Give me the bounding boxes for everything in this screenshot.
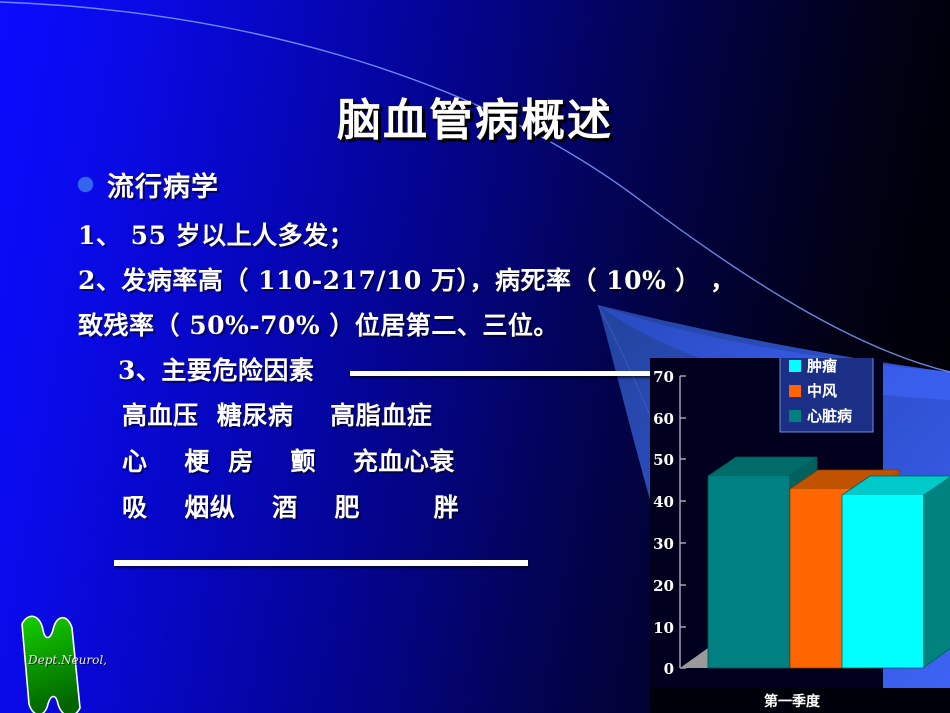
- epidemiology-bullet: 流行病学: [78, 165, 718, 204]
- y-tick-40: 40: [653, 493, 674, 511]
- y-tick-50: 50: [653, 451, 674, 469]
- bar-tumor: [842, 476, 950, 668]
- chart-legend: 肿瘤 中风 心脏病: [780, 358, 873, 432]
- epidemiology-label: 流行病学: [107, 165, 219, 204]
- x-category-label: 第一季度: [764, 693, 821, 710]
- chart-svg: 70 60 50 40 30 20 10 0: [650, 358, 950, 713]
- y-tick-10: 10: [653, 619, 674, 637]
- slide-body: 流行病学 1、 55 岁以上人多发； 2、发病率高（ 110-217/10 万）…: [78, 165, 718, 531]
- mortality-bar-chart: 70 60 50 40 30 20 10 0: [650, 358, 950, 713]
- bullet-dot-icon: [78, 177, 93, 192]
- y-tick-0: 0: [664, 660, 674, 678]
- y-tick-30: 30: [653, 535, 674, 553]
- body-line-3: 致残率（ 50%-70% ）位居第二、三位。: [78, 303, 718, 348]
- slide-title: 脑血管病概述: [0, 84, 950, 148]
- body-line-2: 2、发病率高（ 110-217/10 万），病死率（ 10% ） ，: [78, 258, 718, 303]
- y-tick-20: 20: [653, 577, 674, 595]
- y-tick-60: 60: [653, 410, 674, 428]
- y-tick-70: 70: [653, 368, 674, 386]
- risk-row-2: 心 梗 房 颤 充血心衰: [78, 439, 718, 485]
- risk-row-1: 高血压 糖尿病 高脂血症: [78, 393, 718, 439]
- legend-label-stroke: 中风: [807, 382, 837, 400]
- legend-label-tumor: 肿瘤: [807, 358, 837, 375]
- presentation-slide: 脑血管病概述 流行病学 1、 55 岁以上人多发； 2、发病率高（ 110-21…: [0, 0, 950, 713]
- legend-swatch-stroke: [789, 385, 801, 397]
- neuron-wave-logo-icon: [8, 608, 128, 713]
- body-line-1: 1、 55 岁以上人多发；: [78, 213, 718, 258]
- legend-label-heart: 心脏病: [807, 407, 852, 425]
- legend-swatch-tumor: [789, 360, 801, 372]
- divider-line-bottom: [114, 560, 528, 566]
- risk-row-3: 吸 烟纵 酒 肥 胖: [78, 485, 718, 531]
- legend-swatch-heart: [789, 410, 801, 422]
